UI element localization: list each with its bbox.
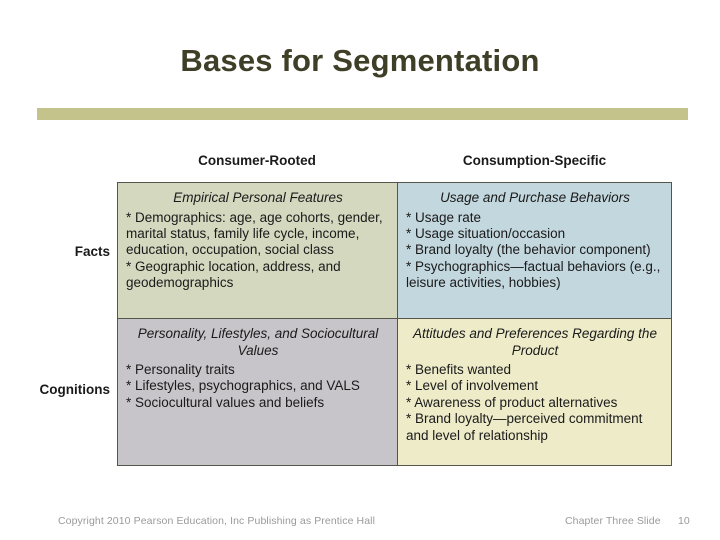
matrix-column-header-consumption-specific: Consumption-Specific: [397, 152, 672, 169]
matrix-cell-title: Attitudes and Preferences Regarding the …: [406, 326, 664, 359]
matrix-cell-body: * Personality traits * Lifestyles, psych…: [126, 362, 390, 411]
matrix-cell-title: Empirical Personal Features: [126, 190, 390, 207]
matrix-row-header-cognitions: Cognitions: [10, 381, 110, 398]
segmentation-bases-matrix: Empirical Personal Features * Demographi…: [117, 182, 672, 466]
matrix-cell-facts-consumer-rooted: Empirical Personal Features * Demographi…: [118, 183, 398, 319]
matrix-cell-body: * Benefits wanted * Level of involvement…: [406, 362, 664, 444]
footer-chapter-label: Chapter Three Slide: [565, 515, 661, 527]
footer-slide-number: 10: [678, 515, 690, 527]
matrix-cell-title: Personality, Lifestyles, and Sociocultur…: [126, 326, 390, 359]
page-title: Bases for Segmentation: [0, 42, 720, 80]
matrix-cell-title: Usage and Purchase Behaviors: [406, 190, 664, 207]
matrix-row-header-facts: Facts: [10, 243, 110, 260]
matrix-cell-cognitions-consumer-rooted: Personality, Lifestyles, and Sociocultur…: [118, 319, 398, 465]
footer-copyright: Copyright 2010 Pearson Education, Inc Pu…: [58, 515, 375, 527]
matrix-cell-body: * Usage rate * Usage situation/occasion …: [406, 210, 664, 292]
matrix-cell-cognitions-consumption-specific: Attitudes and Preferences Regarding the …: [398, 319, 671, 465]
matrix-cell-body: * Demographics: age, age cohorts, gender…: [126, 210, 390, 292]
title-divider-bar: [37, 108, 688, 120]
matrix-cell-facts-consumption-specific: Usage and Purchase Behaviors * Usage rat…: [398, 183, 671, 319]
matrix-column-header-consumer-rooted: Consumer-Rooted: [117, 152, 397, 169]
